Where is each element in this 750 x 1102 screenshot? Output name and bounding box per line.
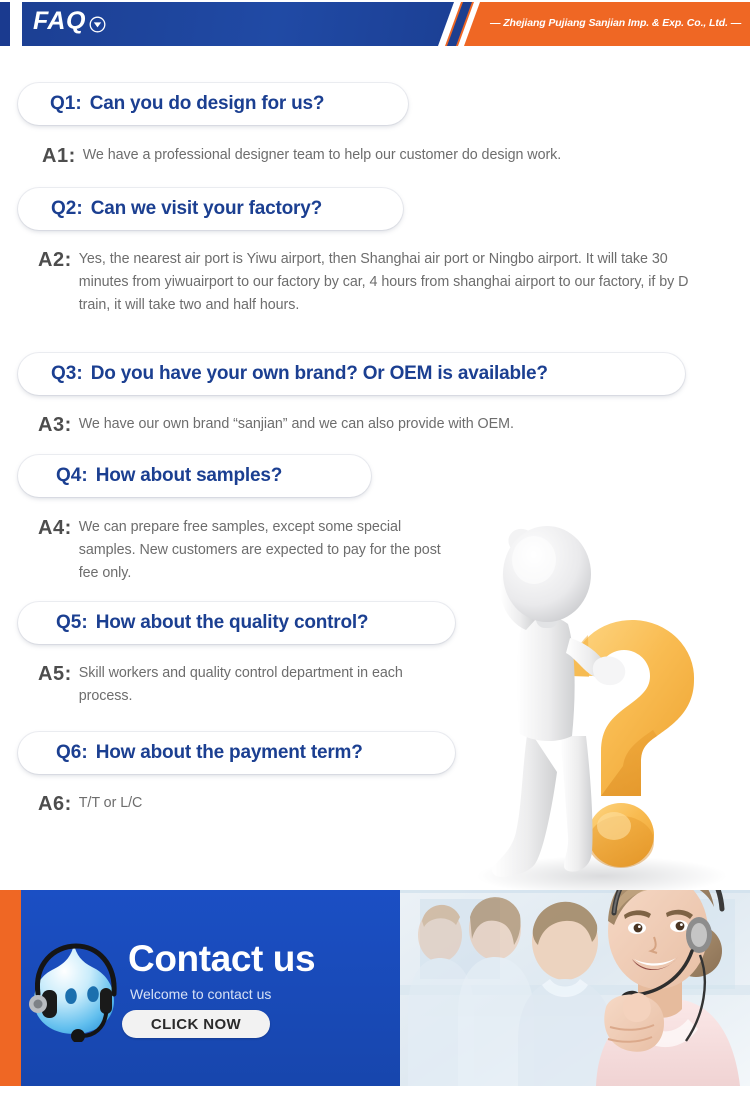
- faq-answer-6: A6: T/T or L/C: [38, 792, 468, 817]
- faq-question-text: Can we visit your factory?: [91, 198, 322, 220]
- click-now-label: CLICK NOW: [151, 1016, 241, 1033]
- faq-answer-5: A5: Skill workers and quality control de…: [38, 662, 468, 708]
- faq-answer-number: A4:: [38, 516, 72, 541]
- faq-answer-number: A6:: [38, 792, 72, 817]
- faq-question-text: Can you do design for us?: [90, 93, 325, 115]
- faq-question-number: Q6:: [56, 742, 88, 764]
- company-name: — Zhejiang Pujiang Sanjian Imp. & Exp. C…: [490, 17, 740, 29]
- faq-answer-2: A2: Yes, the nearest air port is Yiwu ai…: [38, 248, 728, 317]
- call-center-agents-photo: [400, 890, 750, 1086]
- faq-answer-text: Skill workers and quality control depart…: [79, 662, 444, 708]
- contact-orange-stripe: [0, 890, 21, 1086]
- faq-list: Q1: Can you do design for us? A1: We hav…: [0, 48, 750, 858]
- contact-subtitle: Welcome to contact us: [130, 986, 271, 1002]
- faq-answer-number: A3:: [38, 413, 72, 438]
- faq-question-3[interactable]: Q3: Do you have your own brand? Or OEM i…: [18, 353, 685, 395]
- faq-answer-text: We can prepare free samples, except some…: [79, 516, 449, 585]
- faq-answer-text: T/T or L/C: [79, 792, 143, 815]
- faq-answer-number: A2:: [38, 248, 72, 273]
- faq-question-number: Q2:: [51, 198, 83, 220]
- faq-question-6[interactable]: Q6: How about the payment term?: [18, 732, 455, 774]
- thinking-man-question-mark-illustration: [452, 498, 750, 898]
- click-now-button[interactable]: CLICK NOW: [122, 1010, 270, 1038]
- faq-answer-number: A1:: [42, 144, 76, 169]
- faq-answer-text: We have our own brand “sanjian” and we c…: [79, 413, 514, 436]
- faq-question-4[interactable]: Q4: How about samples?: [18, 455, 371, 497]
- faq-answer-4: A4: We can prepare free samples, except …: [38, 516, 468, 585]
- faq-question-text: How about the quality control?: [96, 612, 369, 634]
- faq-question-number: Q1:: [50, 93, 82, 115]
- faq-question-text: How about the payment term?: [96, 742, 363, 764]
- chevron-down-circle-icon: [89, 16, 106, 33]
- trademanager-mascot-icon: [22, 932, 126, 1042]
- page-title: FAQ: [33, 7, 86, 36]
- faq-question-5[interactable]: Q5: How about the quality control?: [18, 602, 455, 644]
- faq-answer-1: A1: We have a professional designer team…: [42, 144, 732, 169]
- faq-answer-text: Yes, the nearest air port is Yiwu airpor…: [79, 248, 704, 317]
- contact-banner: Contact us Welcome to contact us: [0, 890, 750, 1086]
- faq-answer-text: We have a professional designer team to …: [83, 144, 561, 167]
- faq-question-number: Q5:: [56, 612, 88, 634]
- faq-question-1[interactable]: Q1: Can you do design for us?: [18, 83, 408, 125]
- page-header: FAQ — Zhejiang Pujiang Sanjian Imp. & Ex…: [0, 0, 750, 48]
- faq-question-number: Q3:: [51, 363, 83, 385]
- header-left-accent-bar: [0, 2, 10, 46]
- faq-question-2[interactable]: Q2: Can we visit your factory?: [18, 188, 403, 230]
- faq-answer-number: A5:: [38, 662, 72, 687]
- faq-question-text: How about samples?: [96, 465, 282, 487]
- faq-page: FAQ — Zhejiang Pujiang Sanjian Imp. & Ex…: [0, 0, 750, 1102]
- contact-title: Contact us: [128, 938, 315, 980]
- faq-question-number: Q4:: [56, 465, 88, 487]
- faq-question-text: Do you have your own brand? Or OEM is av…: [91, 363, 548, 385]
- faq-answer-3: A3: We have our own brand “sanjian” and …: [38, 413, 728, 438]
